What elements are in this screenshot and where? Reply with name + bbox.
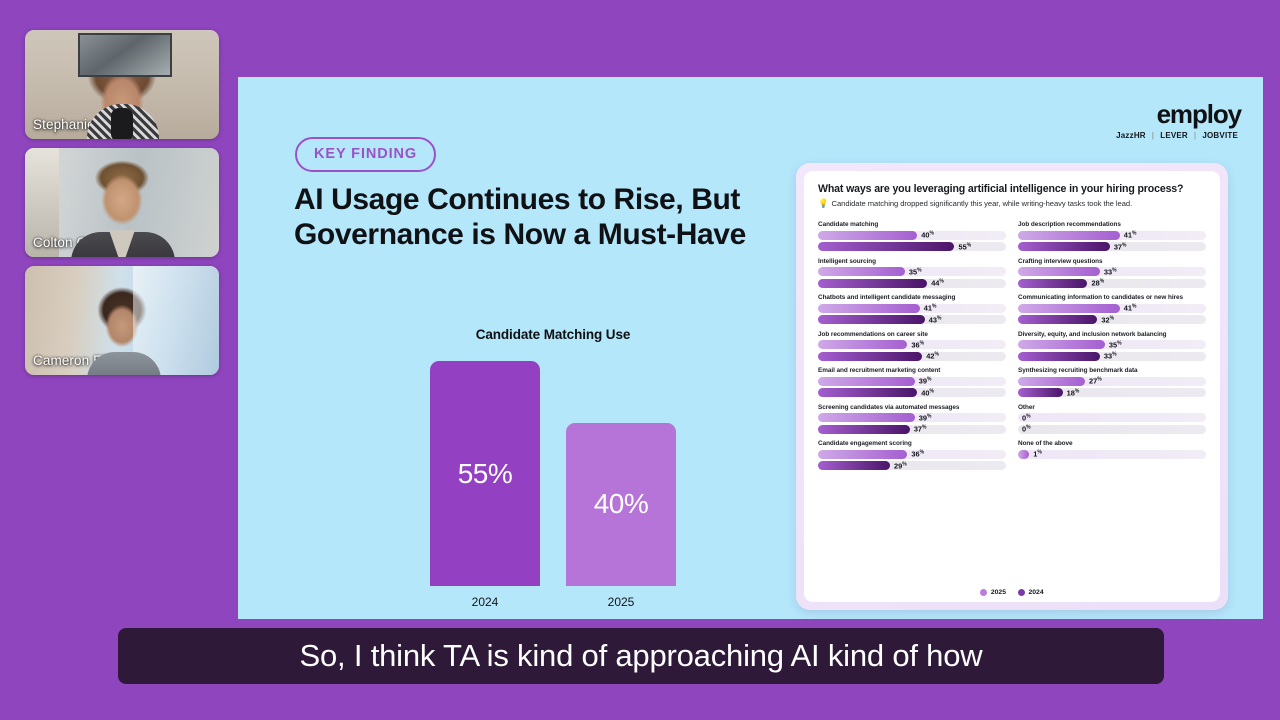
survey-bar-value: 41% bbox=[1124, 303, 1137, 312]
survey-bar-fill bbox=[1018, 267, 1100, 276]
survey-row: Other0%0% bbox=[1018, 404, 1206, 434]
survey-note-text: Candidate matching dropped significantly… bbox=[832, 199, 1133, 208]
survey-row-label: Job description recommendations bbox=[1018, 221, 1206, 228]
survey-bar-fill bbox=[1018, 231, 1120, 240]
shared-slide[interactable]: KEY FINDING AI Usage Continues to Rise, … bbox=[238, 77, 1263, 619]
survey-bar-value: 44% bbox=[931, 278, 944, 287]
bar-category-label: 2025 bbox=[566, 595, 676, 609]
slide-headline: AI Usage Continues to Rise, But Governan… bbox=[294, 182, 764, 253]
logo-divider: | bbox=[1149, 131, 1157, 140]
survey-bar-value: 37% bbox=[1114, 242, 1127, 251]
survey-bar-fill bbox=[1018, 304, 1120, 313]
survey-bar-value: 29% bbox=[894, 461, 907, 470]
survey-legend: 2025 2024 bbox=[804, 589, 1220, 596]
survey-bar-value: 39% bbox=[919, 413, 932, 422]
survey-bar-fill bbox=[1018, 388, 1063, 397]
survey-bar-track: 39% bbox=[818, 413, 1006, 422]
survey-panel-card: What ways are you leveraging artificial … bbox=[804, 171, 1220, 602]
logo-wordmark: employ bbox=[1113, 101, 1241, 127]
survey-bar-fill bbox=[818, 315, 925, 324]
survey-row-label: Diversity, equity, and inclusion network… bbox=[1018, 331, 1206, 338]
chart-title: Candidate Matching Use bbox=[388, 327, 718, 342]
survey-bar-fill bbox=[1018, 377, 1085, 386]
survey-bar-track: 41% bbox=[818, 304, 1006, 313]
survey-bar-value: 40% bbox=[921, 230, 934, 239]
participant-tile[interactable]: Cameron Ellis bbox=[25, 266, 219, 375]
survey-row: Intelligent sourcing35%44% bbox=[818, 258, 1006, 288]
survey-bar-track: 37% bbox=[1018, 242, 1206, 251]
survey-bar-fill bbox=[1018, 340, 1105, 349]
survey-row: Job description recommendations41%37% bbox=[1018, 221, 1206, 251]
survey-bar-track: 32% bbox=[1018, 315, 1206, 324]
survey-bar-track: 43% bbox=[818, 315, 1006, 324]
survey-bar-value: 55% bbox=[958, 242, 971, 251]
survey-bar-value: 40% bbox=[921, 388, 934, 397]
survey-bar-track: 42% bbox=[818, 352, 1006, 361]
survey-bar-fill bbox=[818, 242, 954, 251]
bar-group-2024: 55% 2024 bbox=[430, 361, 540, 609]
survey-row: Chatbots and intelligent candidate messa… bbox=[818, 294, 1006, 324]
survey-bar-value: 37% bbox=[914, 424, 927, 433]
survey-columns: Candidate matching40%55%Intelligent sour… bbox=[818, 221, 1206, 477]
survey-bar-value: 43% bbox=[929, 315, 942, 324]
survey-bar-value: 36% bbox=[911, 449, 924, 458]
legend-item-2024: 2024 bbox=[1018, 589, 1044, 596]
participant-tile[interactable]: Colton Green bbox=[25, 148, 219, 257]
survey-bar-value: 28% bbox=[1091, 278, 1104, 287]
survey-row-label: Crafting interview questions bbox=[1018, 258, 1206, 265]
employ-logo: employ JazzHR|LEVER|JOBVITE bbox=[1113, 101, 1241, 140]
survey-bar-track: 33% bbox=[1018, 267, 1206, 276]
legend-label: 2024 bbox=[1029, 589, 1044, 596]
survey-bar-track: 41% bbox=[1018, 231, 1206, 240]
survey-bar-fill bbox=[818, 388, 917, 397]
logo-brands: JazzHR|LEVER|JOBVITE bbox=[1113, 131, 1241, 140]
survey-bar-value: 35% bbox=[1109, 340, 1122, 349]
survey-bar-track: 36% bbox=[818, 450, 1006, 459]
survey-column-right: Job description recommendations41%37%Cra… bbox=[1018, 221, 1206, 477]
survey-row-label: Other bbox=[1018, 404, 1206, 411]
survey-bar-track: 33% bbox=[1018, 352, 1206, 361]
survey-bar-fill bbox=[818, 231, 917, 240]
survey-bar-fill bbox=[818, 304, 920, 313]
survey-bar-fill bbox=[818, 340, 907, 349]
participant-name: Cameron Ellis bbox=[33, 353, 118, 368]
survey-bar-track: 55% bbox=[818, 242, 1006, 251]
survey-bar-fill bbox=[818, 352, 922, 361]
survey-bar-fill bbox=[818, 425, 910, 434]
survey-row-label: Intelligent sourcing bbox=[818, 258, 1006, 265]
survey-bar-value: 18% bbox=[1067, 388, 1080, 397]
survey-bar-track: 18% bbox=[1018, 388, 1206, 397]
survey-bar-track: 27% bbox=[1018, 377, 1206, 386]
survey-row-label: Communicating information to candidates … bbox=[1018, 294, 1206, 301]
survey-row-label: None of the above bbox=[1018, 440, 1206, 447]
survey-row: Crafting interview questions33%28% bbox=[1018, 258, 1206, 288]
survey-bar-fill bbox=[818, 461, 890, 470]
survey-bar-fill bbox=[818, 377, 915, 386]
survey-panel: What ways are you leveraging artificial … bbox=[796, 163, 1228, 610]
legend-item-2025: 2025 bbox=[980, 589, 1006, 596]
survey-bar-track: 1% bbox=[1018, 450, 1206, 459]
survey-bar-value: 27% bbox=[1089, 376, 1102, 385]
survey-bar-fill bbox=[1018, 242, 1110, 251]
brand-jazzhr: JazzHR bbox=[1113, 131, 1149, 140]
bar-group-2025: 40% 2025 bbox=[566, 423, 676, 609]
survey-row: Email and recruitment marketing content3… bbox=[818, 367, 1006, 397]
bar-value-label: 55% bbox=[458, 458, 513, 490]
survey-bar-track: 0% bbox=[1018, 425, 1206, 434]
survey-row: Screening candidates via automated messa… bbox=[818, 404, 1006, 434]
legend-label: 2025 bbox=[991, 589, 1006, 596]
avatar bbox=[109, 230, 135, 257]
caption-text: So, I think TA is kind of approaching AI… bbox=[300, 638, 983, 674]
survey-row: Communicating information to candidates … bbox=[1018, 294, 1206, 324]
survey-bar-value: 42% bbox=[926, 351, 939, 360]
survey-bar-track: 41% bbox=[1018, 304, 1206, 313]
survey-bar-track: 29% bbox=[818, 461, 1006, 470]
key-finding-badge: KEY FINDING bbox=[295, 137, 436, 172]
participant-filmstrip: Stephanie Manzelli Colton Green Cameron … bbox=[25, 30, 219, 384]
survey-bar-value: 36% bbox=[911, 340, 924, 349]
survey-question: What ways are you leveraging artificial … bbox=[818, 183, 1206, 195]
survey-bar-fill bbox=[818, 267, 905, 276]
survey-bar-fill bbox=[1018, 450, 1029, 459]
participant-name: Colton Green bbox=[33, 235, 115, 250]
survey-bar-track: 35% bbox=[1018, 340, 1206, 349]
survey-row-label: Synthesizing recruiting benchmark data bbox=[1018, 367, 1206, 374]
survey-bar-track: 44% bbox=[818, 279, 1006, 288]
brand-lever: LEVER bbox=[1157, 131, 1191, 140]
screen: Stephanie Manzelli Colton Green Cameron … bbox=[0, 0, 1280, 720]
survey-bar-value: 0% bbox=[1022, 413, 1031, 422]
legend-swatch-icon bbox=[1018, 589, 1025, 596]
lightbulb-icon: 💡 bbox=[818, 199, 829, 208]
survey-bar-value: 41% bbox=[1124, 230, 1137, 239]
survey-bar-fill bbox=[1018, 352, 1100, 361]
survey-row: Candidate engagement scoring36%29% bbox=[818, 440, 1006, 470]
bar-value-label: 40% bbox=[594, 488, 649, 520]
survey-row-label: Screening candidates via automated messa… bbox=[818, 404, 1006, 411]
survey-bar-track: 28% bbox=[1018, 279, 1206, 288]
brand-jobvite: JOBVITE bbox=[1199, 131, 1241, 140]
survey-row: Job recommendations on career site36%42% bbox=[818, 331, 1006, 361]
survey-row-label: Candidate engagement scoring bbox=[818, 440, 1006, 447]
survey-row-label: Chatbots and intelligent candidate messa… bbox=[818, 294, 1006, 301]
survey-note: 💡 Candidate matching dropped significant… bbox=[818, 199, 1206, 208]
survey-bar-fill bbox=[1018, 279, 1087, 288]
survey-bar-track: 40% bbox=[818, 231, 1006, 240]
survey-bar-value: 32% bbox=[1101, 315, 1114, 324]
survey-row-label: Job recommendations on career site bbox=[818, 331, 1006, 338]
avatar bbox=[111, 108, 133, 139]
survey-bar-track: 37% bbox=[818, 425, 1006, 434]
bar-2025: 40% bbox=[566, 423, 676, 586]
survey-column-left: Candidate matching40%55%Intelligent sour… bbox=[818, 221, 1006, 477]
survey-row: Synthesizing recruiting benchmark data27… bbox=[1018, 367, 1206, 397]
survey-bar-value: 0% bbox=[1022, 424, 1031, 433]
survey-bar-track: 36% bbox=[818, 340, 1006, 349]
survey-bar-value: 33% bbox=[1104, 267, 1117, 276]
survey-bar-fill bbox=[818, 413, 915, 422]
survey-bar-track: 39% bbox=[818, 377, 1006, 386]
survey-row: Diversity, equity, and inclusion network… bbox=[1018, 331, 1206, 361]
survey-bar-track: 35% bbox=[818, 267, 1006, 276]
survey-bar-value: 33% bbox=[1104, 351, 1117, 360]
legend-swatch-icon bbox=[980, 589, 987, 596]
survey-bar-value: 41% bbox=[924, 303, 937, 312]
survey-bar-track: 40% bbox=[818, 388, 1006, 397]
survey-bar-fill bbox=[1018, 315, 1097, 324]
bar-2024: 55% bbox=[430, 361, 540, 586]
survey-bar-fill bbox=[818, 450, 907, 459]
survey-bar-value: 1% bbox=[1033, 449, 1042, 458]
survey-row-label: Candidate matching bbox=[818, 221, 1006, 228]
chart-bars: 55% 2024 40% 2025 bbox=[388, 364, 718, 609]
survey-row-label: Email and recruitment marketing content bbox=[818, 367, 1006, 374]
survey-bar-track: 0% bbox=[1018, 413, 1206, 422]
caption-bar: So, I think TA is kind of approaching AI… bbox=[118, 628, 1164, 684]
survey-bar-value: 39% bbox=[919, 376, 932, 385]
survey-row: None of the above1% bbox=[1018, 440, 1206, 459]
participant-tile[interactable]: Stephanie Manzelli bbox=[25, 30, 219, 139]
survey-row: Candidate matching40%55% bbox=[818, 221, 1006, 251]
candidate-matching-chart: Candidate Matching Use 55% 2024 40% 2025 bbox=[388, 327, 718, 609]
bar-category-label: 2024 bbox=[430, 595, 540, 609]
survey-bar-fill bbox=[818, 279, 927, 288]
survey-bar-value: 35% bbox=[909, 267, 922, 276]
